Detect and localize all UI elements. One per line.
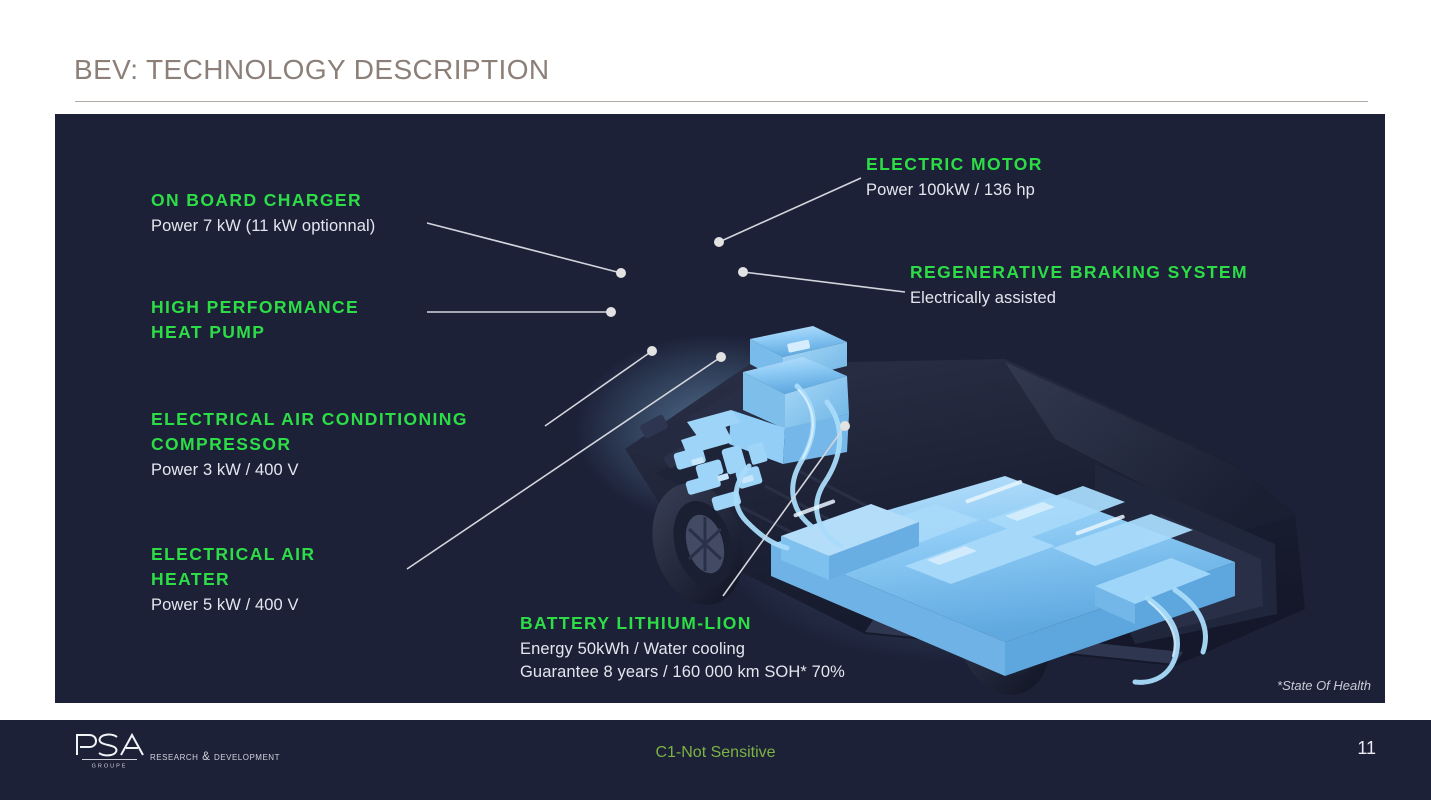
callout-battery-lithium-lion-title: BATTERY LITHIUM-LION — [520, 611, 845, 636]
svg-text:GROUPE: GROUPE — [92, 764, 128, 770]
callout-electrical-air-heater: ELECTRICAL AIR HEATER Power 5 kW / 400 V — [151, 542, 315, 617]
callout-high-performance-heat-pump: HIGH PERFORMANCE HEAT PUMP — [151, 295, 359, 347]
footnote-state-of-health: *State Of Health — [1277, 678, 1371, 693]
callout-electric-motor-title: ELECTRIC MOTOR — [866, 152, 1043, 177]
callout-on-board-charger-subtitle: Power 7 kW (11 kW optionnal) — [151, 215, 375, 238]
callout-electric-motor-subtitle: Power 100kW / 136 hp — [866, 179, 1043, 202]
callout-electrical-air-conditioning-compressor: ELECTRICAL AIR CONDITIONING COMPRESSOR P… — [151, 407, 468, 482]
page-title: BEV: TECHNOLOGY DESCRIPTION — [74, 54, 550, 86]
callout-battery-lithium-lion-subtitle: Energy 50kWh / Water cooling Guarantee 8… — [520, 638, 845, 684]
slide-content-panel: ON BOARD CHARGER Power 7 kW (11 kW optio… — [55, 114, 1385, 703]
callout-electrical-air-conditioning-compressor-subtitle: Power 3 kW / 400 V — [151, 459, 468, 482]
callout-regenerative-braking-system-title: REGENERATIVE BRAKING SYSTEM — [910, 260, 1248, 285]
callout-on-board-charger-title: ON BOARD CHARGER — [151, 188, 375, 213]
callout-on-board-charger: ON BOARD CHARGER Power 7 kW (11 kW optio… — [151, 188, 375, 238]
callout-battery-lithium-lion: BATTERY LITHIUM-LION Energy 50kWh / Wate… — [520, 611, 845, 684]
callout-electrical-air-heater-title: ELECTRICAL AIR HEATER — [151, 542, 315, 592]
callout-regenerative-braking-system: REGENERATIVE BRAKING SYSTEM Electrically… — [910, 260, 1248, 310]
document-classification-label: C1-Not Sensitive — [0, 744, 1431, 762]
callout-electric-motor: ELECTRIC MOTOR Power 100kW / 136 hp — [866, 152, 1043, 202]
callout-electrical-air-conditioning-compressor-title: ELECTRICAL AIR CONDITIONING COMPRESSOR — [151, 407, 468, 457]
callout-electrical-air-heater-subtitle: Power 5 kW / 400 V — [151, 594, 315, 617]
title-divider — [75, 101, 1368, 102]
page-number: 11 — [1357, 738, 1376, 759]
callout-regenerative-braking-system-subtitle: Electrically assisted — [910, 287, 1248, 310]
callout-high-performance-heat-pump-title: HIGH PERFORMANCE HEAT PUMP — [151, 295, 359, 345]
